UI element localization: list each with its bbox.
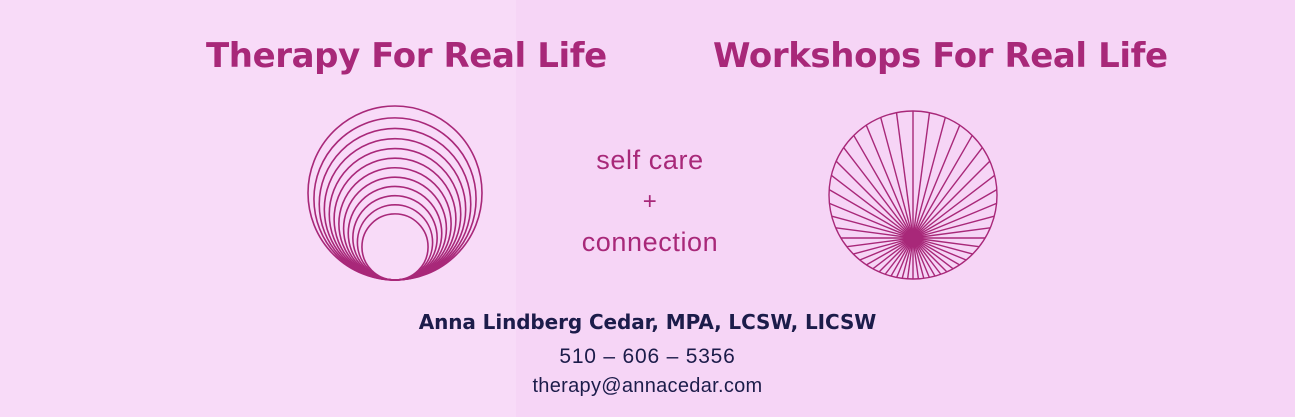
practitioner-name: Anna Lindberg Cedar, MPA, LCSW, LICSW	[0, 310, 1295, 334]
tagline-block: self care + connection	[525, 140, 775, 263]
heading-workshops-for-real-life: Workshops For Real Life	[713, 39, 1168, 73]
nested-circles-icon	[295, 103, 500, 288]
tagline-line-self-care: self care	[525, 140, 775, 181]
contact-phone-number[interactable]: 510 – 606 – 5356	[0, 345, 1295, 369]
sunburst-logo	[820, 103, 1010, 288]
contact-email-address[interactable]: therapy@annacedar.com	[0, 375, 1295, 398]
nested-circles-logo	[295, 103, 500, 288]
tagline-plus-symbol: +	[525, 181, 775, 222]
sunburst-icon	[820, 103, 1010, 288]
heading-therapy-for-real-life: Therapy For Real Life	[206, 39, 607, 73]
tagline-line-connection: connection	[525, 222, 775, 263]
marketing-banner: Therapy For Real Life Workshops For Real…	[0, 0, 1295, 417]
